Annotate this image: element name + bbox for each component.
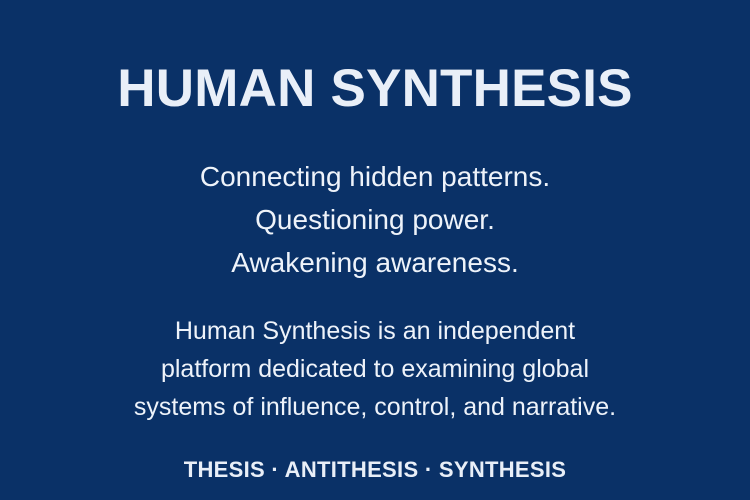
brand-banner: HUMAN SYNTHESIS Connecting hidden patter… [0, 0, 750, 500]
page-title: HUMAN SYNTHESIS [117, 62, 632, 115]
tagline-line: Connecting hidden patterns. [200, 155, 550, 198]
description-line: systems of influence, control, and narra… [134, 388, 616, 426]
description-line: platform dedicated to examining global [161, 350, 589, 388]
description-block: Human Synthesis is an independent platfo… [134, 312, 616, 426]
motto-text: THESIS · ANTITHESIS · SYNTHESIS [184, 458, 567, 482]
tagline-block: Connecting hidden patterns. Questioning … [200, 155, 550, 284]
tagline-line: Questioning power. [255, 198, 495, 241]
description-line: Human Synthesis is an independent [175, 312, 575, 350]
tagline-line: Awakening awareness. [231, 241, 518, 284]
